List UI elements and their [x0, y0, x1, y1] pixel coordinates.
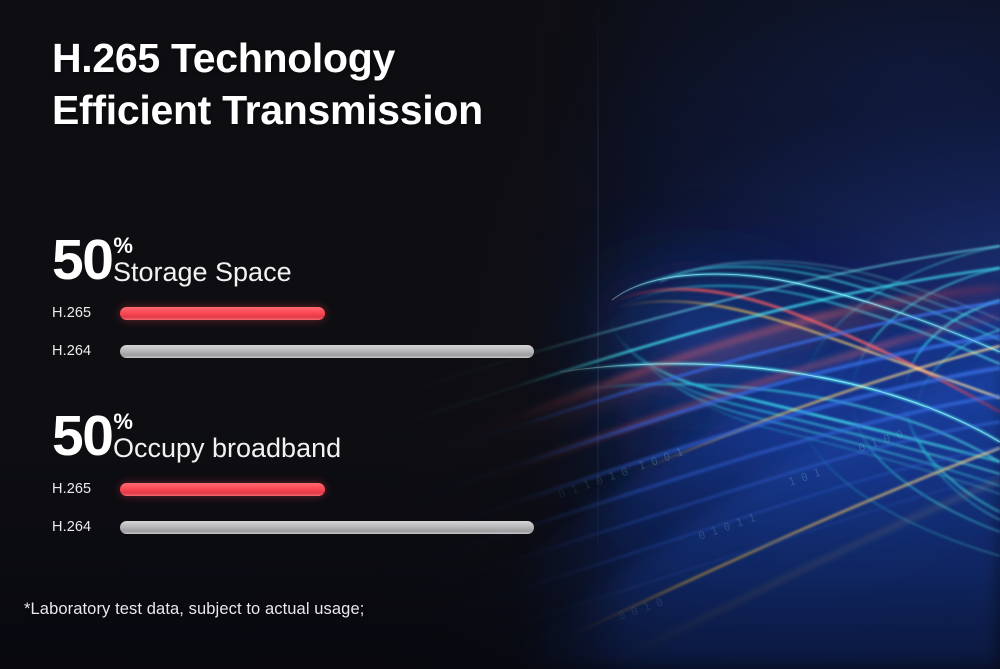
bar-row: H.265 — [52, 478, 341, 500]
bar-label-h265: H.265 — [52, 305, 112, 321]
bar-fill-h265 — [120, 483, 325, 496]
stat-caption: Storage Space — [113, 259, 292, 286]
footnote-disclaimer: *Laboratory test data, subject to actual… — [24, 600, 364, 619]
bar-row: H.264 — [52, 516, 341, 538]
bar-label-h264: H.264 — [52, 519, 112, 535]
stat-block-storage-space: 50 % Storage Space H.265 H.264 — [52, 232, 292, 362]
bar-chart: H.265 H.264 — [52, 302, 292, 362]
bar-label-h265: H.265 — [52, 481, 112, 497]
promo-banner: 0 1 0 0 1 1 0 1 0 0 1 1 0 1 0 1 0 0 1 0 … — [0, 0, 1000, 669]
stat-heading: 50 % Occupy broadband — [52, 408, 341, 464]
bar-chart: H.265 H.264 — [52, 478, 341, 538]
bar-row: H.264 — [52, 340, 292, 362]
page-title: H.265 Technology Efficient Transmission — [52, 32, 483, 137]
stat-caption: Occupy broadband — [113, 435, 341, 462]
stat-block-occupy-broadband: 50 % Occupy broadband H.265 H.264 — [52, 408, 341, 538]
stat-value: 50 — [52, 408, 112, 464]
stat-unit: % — [113, 235, 133, 257]
banner-content: H.265 Technology Efficient Transmission … — [0, 0, 1000, 669]
stat-heading: 50 % Storage Space — [52, 232, 292, 288]
bar-fill-h264 — [120, 521, 534, 534]
bar-fill-h265 — [120, 307, 325, 320]
bar-row: H.265 — [52, 302, 292, 324]
bar-label-h264: H.264 — [52, 343, 112, 359]
bar-fill-h264 — [120, 345, 534, 358]
stat-unit: % — [113, 411, 133, 433]
stat-value: 50 — [52, 232, 112, 288]
